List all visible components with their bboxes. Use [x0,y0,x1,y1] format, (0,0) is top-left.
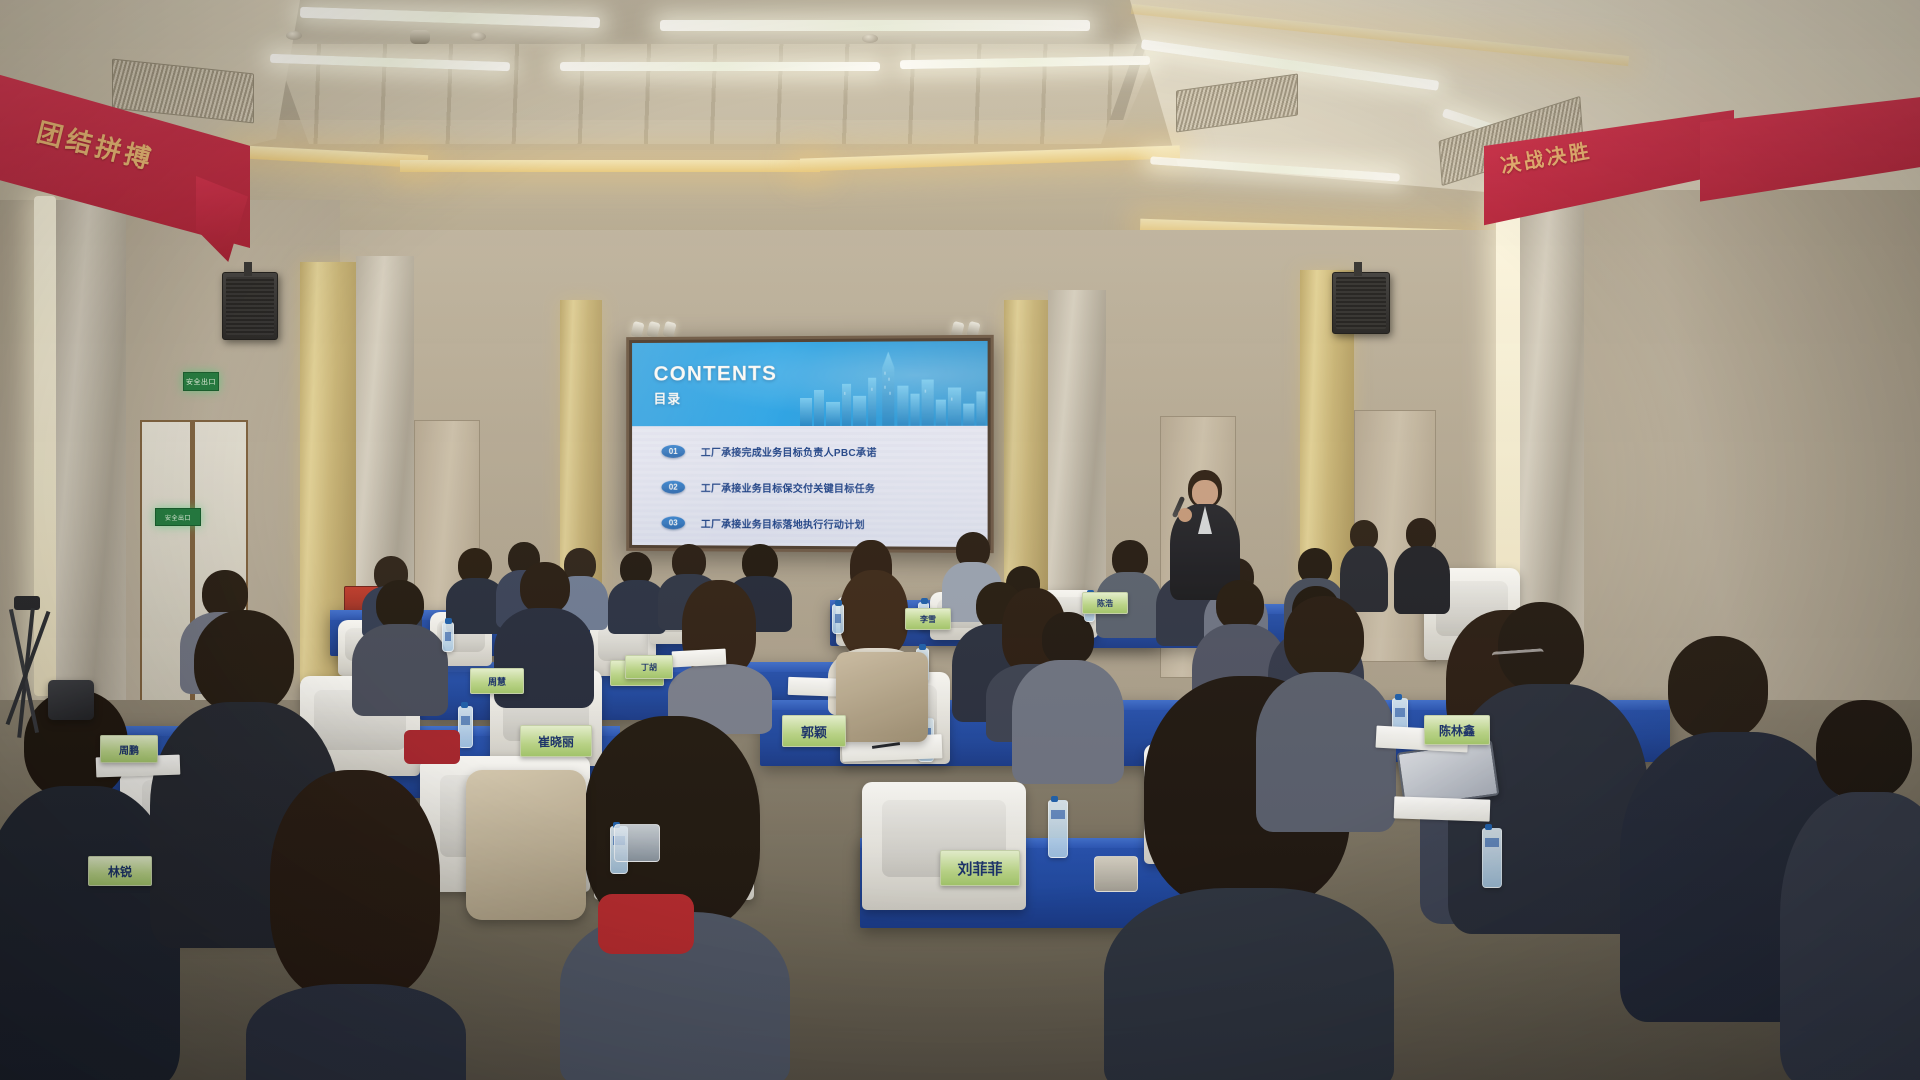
projector-spotlights-left [632,322,675,337]
placard-name: 李雪 [920,614,936,625]
toc-text-1: 工厂承接完成业务目标负责人PBC承诺 [701,444,877,459]
torso [1104,888,1394,1080]
audience-member-foreground [246,770,466,1080]
presenter-hand [1178,508,1192,522]
audience-member-foreground [1256,596,1396,826]
red-bag [404,730,460,764]
exit-sign-door: 安全出口 [155,508,201,526]
placard-name: 陈林鑫 [1439,722,1475,739]
toc-text-2: 工厂承接业务目标保交付关键目标任务 [701,480,875,495]
torso [246,984,466,1080]
glass-cup [614,824,660,862]
slide-toc-item-1: 01 工厂承接完成业务目标负责人PBC承诺 [661,444,876,459]
name-placard: 丁胡 [625,655,673,679]
bottle-cap [1051,796,1058,802]
slide-title: CONTENTS [654,362,778,386]
water-bottle [1482,828,1502,888]
toc-number-1: 01 [661,445,685,458]
name-placard: 林锐 [88,856,152,886]
head [1284,596,1364,680]
name-placard: 陈浩 [1082,592,1128,614]
slide-toc-item-3: 03 工厂承接业务目标落地执行行动计划 [661,515,864,531]
head [1816,700,1912,800]
head [1668,636,1768,740]
smoke-detector-1 [286,31,302,40]
placard-name: 周鹏 [119,742,139,757]
bottle-cap [1395,694,1402,700]
exit-sign-label: 安全出口 [186,377,216,387]
presenter-face [1192,480,1218,506]
placard-name: 林锐 [108,863,132,880]
name-placard: 崔晓丽 [520,725,592,757]
speaker-bracket-right [1354,262,1362,276]
cove-light-center [400,160,820,172]
staff-standing [1394,518,1450,614]
placard-name: 丁胡 [641,662,657,673]
toc-text-3: 工厂承接业务目标落地执行行动计划 [701,516,865,532]
audience-member-foreground [560,716,790,1080]
bottle-cap [1485,824,1492,830]
bag-on-chair [836,652,928,742]
ceiling-tube-4 [560,62,880,71]
bottle-cap [919,644,926,650]
slide-header: CONTENTS 目录 [632,341,988,426]
city-skyline-graphic [796,341,988,426]
bottle-cap [461,702,468,708]
speaker-grill-left [226,277,274,335]
exit-sign: 安全出口 [183,372,219,391]
ceiling-camera [410,30,430,44]
scarf [598,894,694,954]
name-placard: 刘菲菲 [940,850,1020,886]
head [376,580,424,630]
handheld-camera [48,680,94,720]
placard-name: 崔晓丽 [538,733,574,750]
bottle-cap [921,598,928,604]
placard-name: 刘菲菲 [957,858,1002,879]
chair [862,782,1026,910]
camera-tripod [0,596,60,756]
torso [352,624,448,716]
torso [1780,792,1920,1080]
audience-member [352,580,448,710]
toc-number-3: 03 [661,516,685,529]
head [1498,602,1584,692]
glass-cup [1094,856,1138,892]
name-placard: 周鹏 [100,735,158,763]
torso [1256,672,1396,832]
bottle-cap [445,618,452,624]
tripod-head [14,596,40,610]
ceiling-tube-2 [660,20,1090,31]
slide-toc-item-2: 02 工厂承接业务目标保交付关键目标任务 [661,480,875,496]
name-placard: 陈林鑫 [1424,715,1490,745]
water-bottle [442,622,454,652]
slide-subtitle: 目录 [654,388,682,407]
hair [270,770,440,1000]
paper-document [1394,796,1491,821]
name-placard: 李雪 [905,608,951,630]
placard-name: 周慧 [488,675,506,688]
mirror-column-left [56,200,126,700]
audience-member-foreground [1780,700,1920,1080]
water-bottle [832,604,844,634]
paper-document [672,649,727,668]
toc-number-2: 02 [661,481,685,494]
conference-room-photo: 安全出口 安全出口 团结拼搏 决战决胜 [0,0,1920,1080]
slide-surface: CONTENTS 目录 01 工厂承接完成业务目标负责人PBC承诺 02 工厂承… [632,341,988,547]
smoke-detector-4 [862,34,878,43]
hair [840,570,908,658]
name-placard: 郭颖 [782,715,846,747]
slide-body: 01 工厂承接完成业务目标负责人PBC承诺 02 工厂承接业务目标保交付关键目标… [632,426,988,547]
bottle-cap [835,600,842,606]
speaker-grill-right [1336,277,1386,329]
placard-name: 陈浩 [1097,598,1113,609]
wall-speaker-right [1332,272,1390,334]
speaker-bracket-left [244,262,252,276]
mirror-column-far-right [1520,190,1584,660]
torso [1394,546,1450,614]
water-bottle [1048,800,1068,858]
name-placard: 周慧 [470,668,524,694]
wall-speaker-left [222,272,278,340]
coat-on-chair [466,770,586,920]
smoke-detector-2 [470,32,486,41]
water-bottle [458,706,473,748]
projection-screen: CONTENTS 目录 01 工厂承接完成业务目标负责人PBC承诺 02 工厂承… [626,335,994,553]
placard-name: 郭颖 [801,722,827,741]
head [194,610,294,714]
head [520,562,570,614]
exit-sign-door-label: 安全出口 [165,513,191,522]
